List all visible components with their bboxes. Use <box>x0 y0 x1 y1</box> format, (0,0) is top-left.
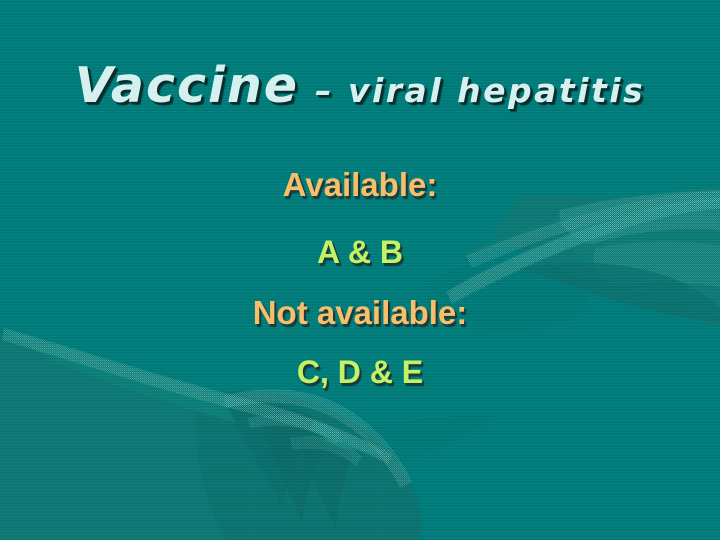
title-main-text: Vaccine <box>75 57 299 114</box>
slide-content: Vaccine– viral hepatitis Available: A & … <box>0 0 720 540</box>
not-available-values: C, D & E <box>0 354 720 391</box>
available-values: A & B <box>0 234 720 271</box>
slide-canvas: Vaccine– viral hepatitis Available: A & … <box>0 0 720 540</box>
available-label: Available: <box>0 166 720 204</box>
slide-title: Vaccine– viral hepatitis <box>0 57 720 114</box>
title-subtitle-text: – viral hepatitis <box>315 71 645 110</box>
not-available-label: Not available: <box>0 294 720 332</box>
